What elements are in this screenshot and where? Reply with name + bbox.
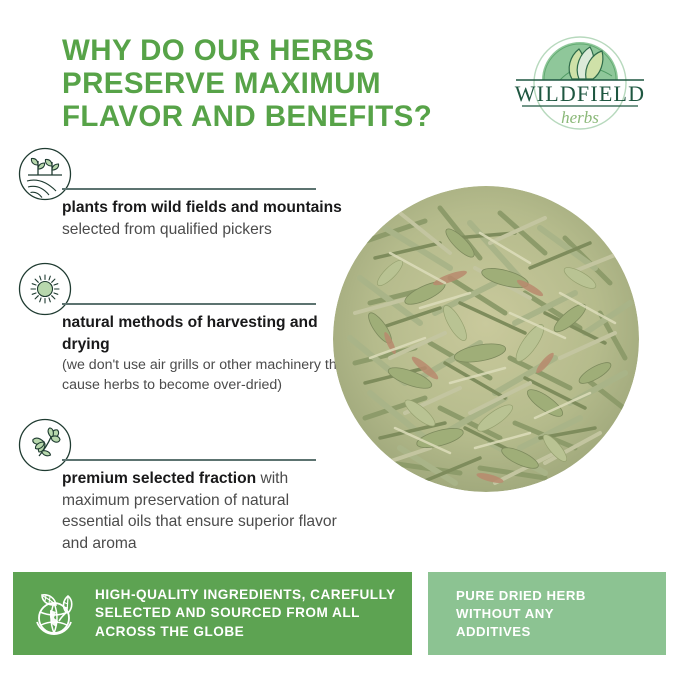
- feature-description: natural methods of harvesting and drying…: [62, 312, 352, 395]
- sprouts-field-icon: [18, 147, 72, 201]
- banner-high-quality-ingredients: HIGH-QUALITY INGREDIENTS, CAREFULLY SELE…: [13, 572, 412, 655]
- leaf-badge-icon: WILDFIELD herbs: [500, 33, 660, 133]
- feature-bold-text: premium selected fraction: [62, 470, 260, 487]
- feature-description: premium selected fraction with maximum p…: [62, 468, 352, 554]
- feature-description: plants from wild fields and mountains se…: [62, 197, 352, 240]
- sun-icon: [18, 262, 72, 316]
- brand-logo: WILDFIELD herbs: [500, 33, 660, 133]
- logo-wordmark: WILDFIELD: [515, 81, 646, 106]
- feature-note-text: (we don't use air grills or other machin…: [62, 355, 352, 395]
- herb-branch-icon: [18, 418, 72, 472]
- globe-leaf-icon: [30, 588, 82, 640]
- infographic-page: WHY DO OUR HERBS PRESERVE MAXIMUM FLAVOR…: [0, 0, 679, 679]
- banner-text: HIGH-QUALITY INGREDIENTS, CAREFULLY SELE…: [95, 586, 396, 642]
- feature-bold-text: plants from wild fields and mountains: [62, 199, 342, 216]
- banner-pure-dried-herb: PURE DRIED HERB WITHOUT ANY ADDITIVES: [428, 572, 666, 655]
- feature-divider: [62, 303, 316, 305]
- banner-text: PURE DRIED HERB WITHOUT ANY ADDITIVES: [456, 587, 586, 641]
- feature-regular-text: selected from qualified pickers: [62, 221, 272, 238]
- feature-bold-text: natural methods of harvesting and drying: [62, 314, 318, 353]
- feature-divider: [62, 188, 316, 190]
- feature-divider: [62, 459, 316, 461]
- dried-herb-photo: [330, 183, 642, 495]
- logo-script: herbs: [561, 108, 599, 127]
- page-title: WHY DO OUR HERBS PRESERVE MAXIMUM FLAVOR…: [62, 34, 482, 133]
